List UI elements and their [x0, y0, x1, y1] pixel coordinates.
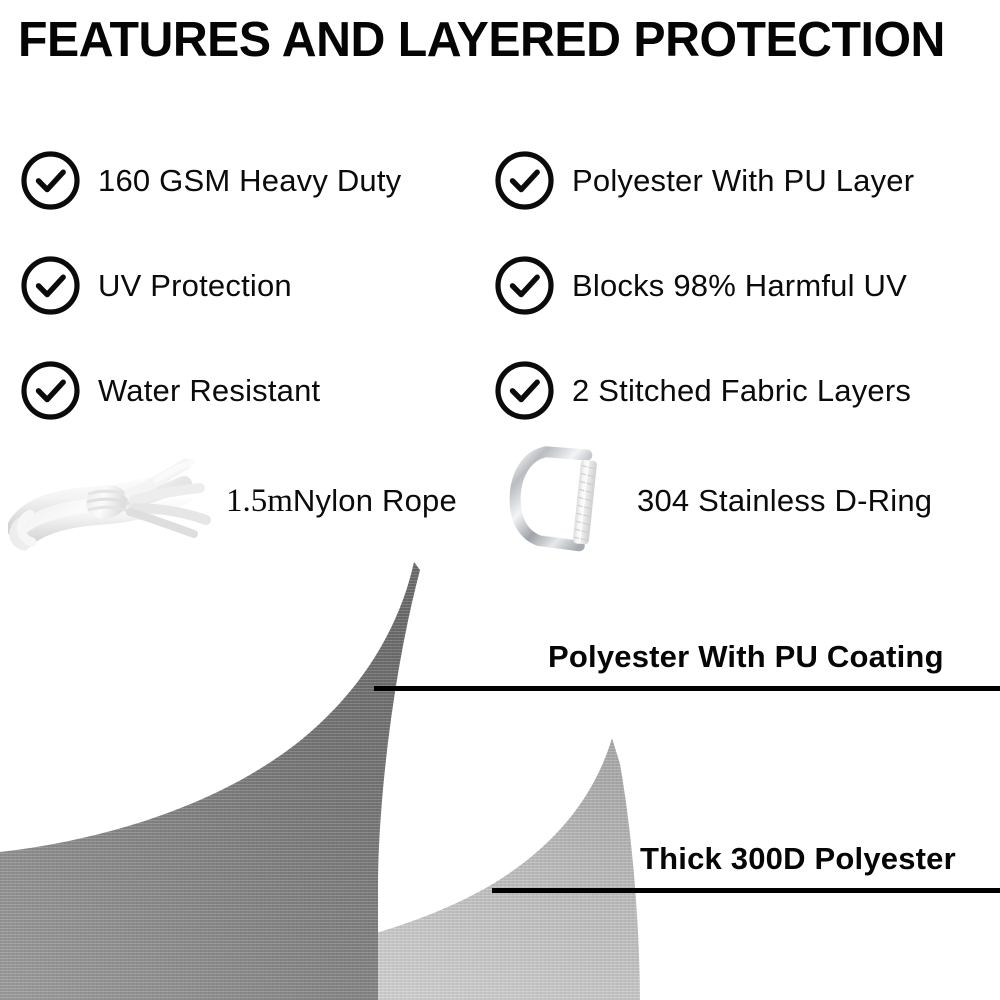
nylon-rope-photo [8, 450, 236, 552]
layer-label-top: Polyester With PU Coating [548, 640, 944, 674]
infographic-canvas: FEATURES AND LAYERED PROTECTION 160 GSM … [0, 0, 1000, 1000]
check-circle-icon [20, 150, 81, 211]
check-circle-icon [20, 255, 81, 316]
layer-label-bottom: Thick 300D Polyester [640, 842, 956, 876]
feature-label: 2 Stitched Fabric Layers [572, 373, 911, 409]
feature-list: 160 GSM Heavy Duty Polyester With PU Lay… [0, 128, 1000, 433]
d-ring-photo [505, 442, 625, 558]
callout-leader-line-top [374, 686, 1000, 691]
feature-item-water-resistant: Water Resistant [20, 338, 490, 443]
feature-row: Water Resistant 2 Stitched Fabric Layers [0, 338, 1000, 443]
feature-row: 160 GSM Heavy Duty Polyester With PU Lay… [0, 128, 1000, 233]
d-ring-label: 304 Stainless D-Ring [637, 438, 932, 563]
feature-item-160-gsm-heavy-duty: 160 GSM Heavy Duty [20, 128, 490, 233]
feature-item-uv-protection: UV Protection [20, 233, 490, 338]
feature-item-polyester-with-pu-layer: Polyester With PU Layer [494, 128, 994, 233]
callout-leader-line-bottom [492, 888, 1000, 893]
check-circle-icon [494, 150, 555, 211]
feature-label: Water Resistant [98, 373, 320, 409]
feature-label: 160 GSM Heavy Duty [98, 163, 401, 199]
feature-label: Blocks 98% Harmful UV [572, 268, 907, 304]
hardware-row: 1.5mNylon Rope [0, 438, 1000, 563]
feature-label: UV Protection [98, 268, 292, 304]
rope-length: 1.5m [226, 483, 293, 519]
feature-row: UV Protection Blocks 98% Harmful UV [0, 233, 1000, 338]
rope-label: 1.5mNylon Rope [226, 438, 457, 563]
feature-item-2-stitched-fabric-layers: 2 Stitched Fabric Layers [494, 338, 994, 443]
check-circle-icon [20, 360, 81, 421]
page-title: FEATURES AND LAYERED PROTECTION [18, 14, 971, 66]
upper-fabric-sheet [0, 562, 420, 1000]
check-circle-icon [494, 255, 555, 316]
feature-label: Polyester With PU Layer [572, 163, 914, 199]
feature-item-blocks-98-harmful-uv: Blocks 98% Harmful UV [494, 233, 994, 338]
fabric-layer-illustration [0, 556, 1000, 1000]
check-circle-icon [494, 360, 555, 421]
rope-name: Nylon Rope [293, 483, 457, 519]
